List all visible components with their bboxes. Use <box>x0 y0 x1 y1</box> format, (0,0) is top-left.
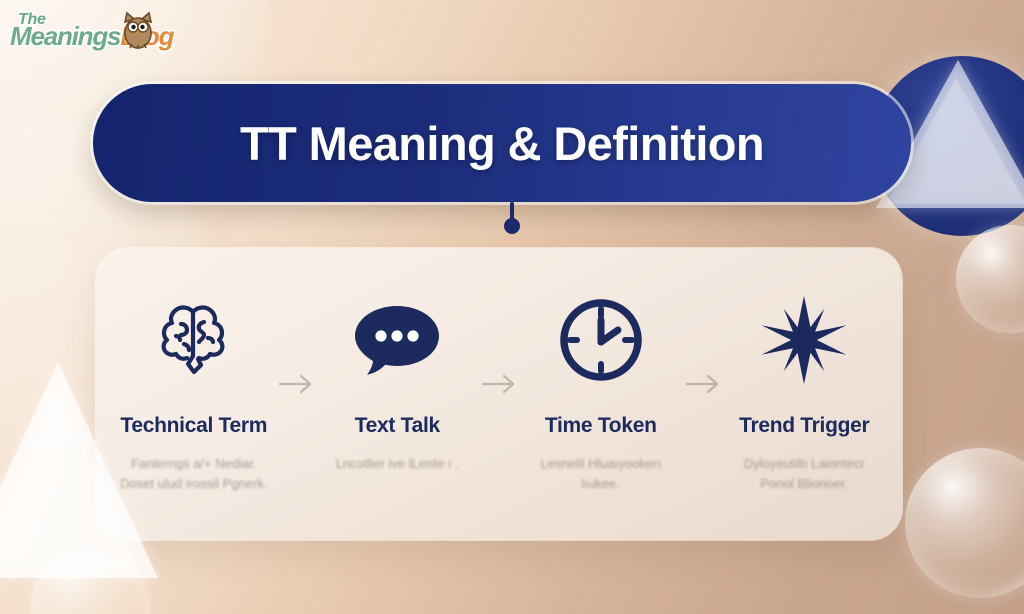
step-title: Time Token <box>545 414 657 438</box>
logo-meanings-text: Meanings <box>10 21 120 51</box>
step-technical-term: Technical Term Fanterngs a/+ Nediar. Dos… <box>114 292 274 494</box>
step-trend-trigger: Trend Trigger Dyloyeutiltı Laiontecr Pon… <box>725 292 885 494</box>
infographic-canvas: The MeaningsBlog TT Meaning & Definition <box>0 0 1024 614</box>
arrow-right-icon <box>477 336 521 432</box>
speech-bubble-icon <box>349 292 445 388</box>
step-description: Lncotlier ive lLente ı . <box>336 454 459 474</box>
glass-sphere-shape <box>905 448 1024 598</box>
banner-connector-dot <box>504 218 520 234</box>
step-text-talk: Text Talk Lncotlier ive lLente ı . <box>318 292 478 474</box>
step-description: Dyloyeutiltı Laiontecr Ponol Bliorioer. <box>731 454 879 494</box>
title-banner: TT Meaning & Definition <box>93 84 911 202</box>
step-time-token: Time Token Lesnelil Hluaıyookerı lıukee. <box>521 292 681 494</box>
step-description: Lesnelil Hluaıyookerı lıukee. <box>527 454 675 494</box>
step-description: Fanterngs a/+ Nediar. Doset ulud irossil… <box>120 454 268 494</box>
glass-sphere-shape <box>956 225 1024 333</box>
site-logo[interactable]: The MeaningsBlog <box>10 6 160 60</box>
steps-row: Technical Term Fanterngs a/+ Nediar. Dos… <box>96 248 902 540</box>
glass-sphere-shape <box>30 548 150 614</box>
sparkle-star-icon <box>758 292 850 388</box>
brain-icon <box>148 292 240 388</box>
arrow-right-icon <box>274 336 318 432</box>
owl-icon <box>115 6 161 57</box>
arrow-right-icon <box>681 336 725 432</box>
step-title: Technical Term <box>120 414 267 438</box>
step-title: Text Talk <box>355 414 440 438</box>
clock-icon <box>555 292 647 388</box>
step-title: Trend Trigger <box>739 414 869 438</box>
page-title: TT Meaning & Definition <box>240 116 764 171</box>
steps-card: Technical Term Fanterngs a/+ Nediar. Dos… <box>96 248 902 540</box>
